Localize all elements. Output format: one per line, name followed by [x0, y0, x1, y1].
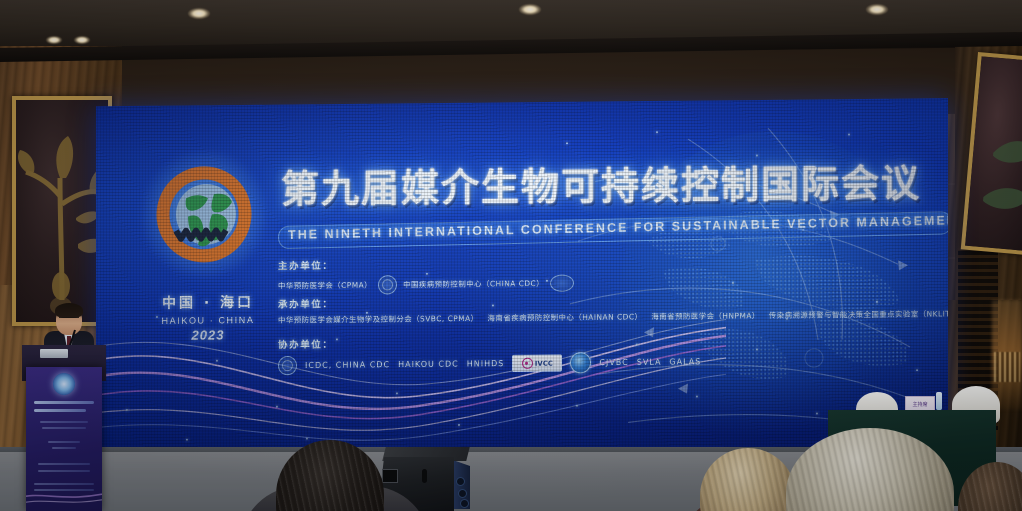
- organizer-item-2: 海南省预防医学会（HNPMA）: [651, 310, 759, 322]
- podium-banner-wave: [26, 481, 102, 511]
- location-cn: 中国 · 海口: [153, 292, 263, 313]
- icdc-seal-icon: [278, 356, 297, 375]
- podium-front-banner: [26, 367, 102, 511]
- china-cdc-seal-icon: [550, 274, 574, 291]
- co-organizer-item-0: ICDC, CHINA CDC: [305, 360, 390, 370]
- led-backdrop-screen: 第九届媒介生物可持续控制国际会议 THE NINETH INTERNATIONA…: [96, 98, 948, 458]
- conference-title-cn: 第九届媒介生物可持续控制国际会议: [281, 161, 921, 212]
- downlight-icon: [519, 4, 541, 15]
- downlight-icon: [866, 4, 888, 15]
- conference-globe-logo: [156, 165, 252, 263]
- speaker-glasses-icon: [59, 317, 79, 322]
- downlight-icon: [74, 36, 90, 44]
- co-organizer-block: 协办单位： ICDC, CHINA CDC HAIKOU CDC HNIHDS …: [278, 333, 701, 376]
- cjvbc-shield-icon: [570, 352, 591, 373]
- downlight-icon: [188, 8, 210, 19]
- right-cabinet-shelf: [994, 352, 1020, 382]
- downlight-icon: [46, 36, 62, 44]
- co-organizer-item-2: HNIHDS: [467, 359, 505, 368]
- co-organizer-label: 协办单位：: [278, 333, 701, 351]
- monitor-handle: [422, 469, 427, 483]
- conference-photo-scene: 第九届媒介生物可持续控制国际会议 THE NINETH INTERNATIONA…: [0, 0, 1022, 511]
- cpma-seal-icon: [378, 275, 397, 294]
- co-organizer-item-1: HAIKOU CDC: [398, 359, 459, 369]
- location-year: 2023: [153, 327, 263, 343]
- co-organizer-item-5: SVLA: [637, 357, 662, 366]
- ivcc-logo-icon: IVCC: [512, 354, 562, 372]
- host-item-1: 中国疾病预防控制中心（CHINA CDC）: [403, 278, 544, 290]
- co-organizer-item-4: CJVBC: [599, 358, 628, 367]
- podium-nameplate: [40, 349, 68, 358]
- ivcc-label: IVCC: [535, 359, 553, 367]
- organizer-item-0: 中华预防医学会媒介生物学及控制分会（SVBC, CPMA）: [278, 313, 479, 326]
- organizer-item-1: 海南省疾病预防控制中心（HAINAN CDC）: [488, 311, 643, 324]
- host-item-0: 中华预防医学会（CPMA）: [278, 279, 372, 291]
- co-organizer-item-6: GALAS: [669, 357, 701, 366]
- speaker-hair: [55, 303, 83, 318]
- location-block: 中国 · 海口 HAIKOU · CHINA 2023: [153, 292, 263, 344]
- host-block: 主办单位： 中华预防医学会（CPMA） 中国疾病预防控制中心（CHINA CDC…: [278, 255, 574, 295]
- podium-banner-logo-icon: [53, 373, 75, 395]
- host-label: 主办单位：: [278, 255, 574, 272]
- water-bottle: [936, 392, 942, 410]
- location-en: HAIKOU · CHINA: [153, 315, 263, 326]
- organizer-item-3: 传染病溯源预警与智能决策全国重点实验室（NKLIT&FID）: [769, 308, 948, 321]
